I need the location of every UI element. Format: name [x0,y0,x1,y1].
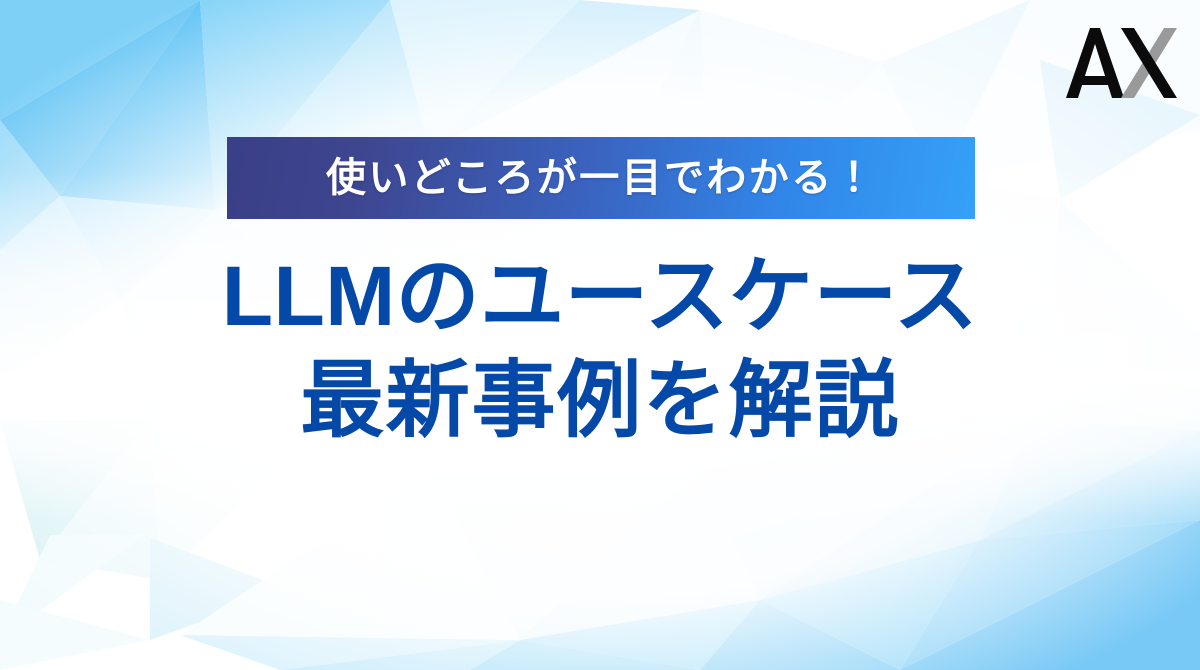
page-title-line-1: LLMのユースケース [0,244,1200,348]
page-title-line-2: 最新事例を解説 [0,348,1200,452]
thumbnail-canvas: 使いどころが一目でわかる！ LLMのユースケース 最新事例を解説 [0,0,1200,670]
page-title: LLMのユースケース 最新事例を解説 [0,244,1200,452]
eyebrow-banner: 使いどころが一目でわかる！ [227,137,975,219]
ax-logo [1066,26,1178,100]
ax-logo-icon [1066,26,1178,100]
eyebrow-banner-label: 使いどころが一目でわかる！ [326,158,876,198]
